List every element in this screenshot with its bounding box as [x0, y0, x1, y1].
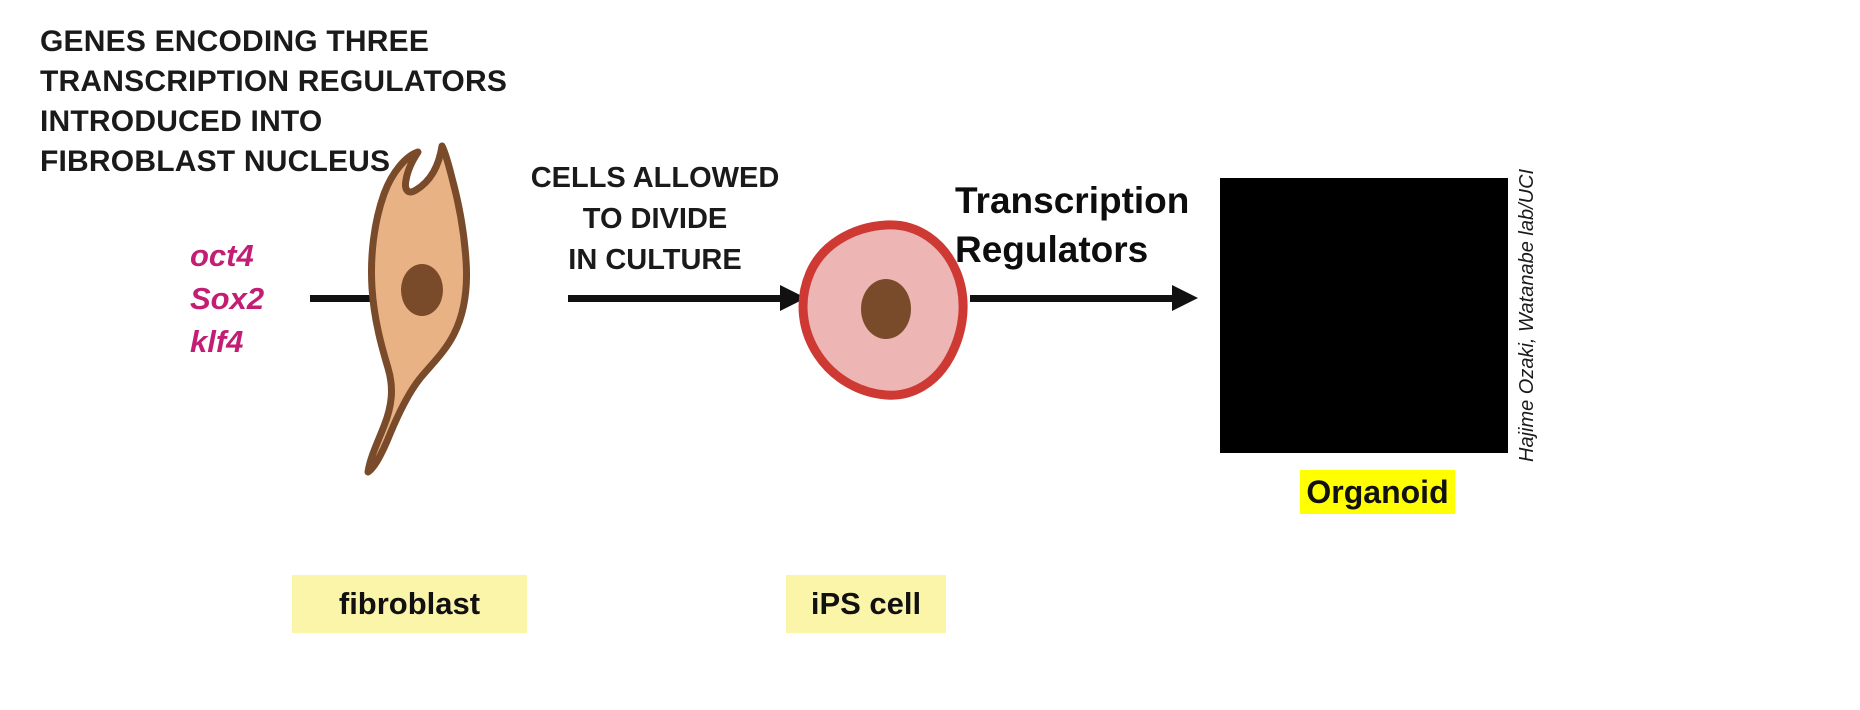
ips-cell-illustration: [790, 215, 980, 405]
organoid-micrograph: [1220, 178, 1508, 453]
diagram-canvas: GENES ENCODING THREE TRANSCRIPTION REGUL…: [0, 0, 1860, 710]
fibroblast-icon: [330, 138, 530, 478]
arrow-ips-to-organoid-icon: [970, 283, 1200, 313]
gene-item-sox2: Sox2: [190, 277, 264, 320]
arrow-fibroblast-to-ips-icon: [568, 283, 808, 313]
label-organoid: Organoid: [1300, 470, 1455, 514]
step-caption-transcription-regulators: Transcription Regulators: [955, 176, 1210, 274]
label-ips-cell: iPS cell: [786, 575, 946, 633]
image-credit: Hajime Ozaki, Watanabe lab/UCI: [1516, 178, 1539, 453]
arrow-head: [1172, 285, 1198, 311]
arrow-shaft: [970, 295, 1174, 302]
organoid-fluorescence-image: [1220, 178, 1508, 453]
label-fibroblast: fibroblast: [292, 575, 527, 633]
gene-item-oct4: oct4: [190, 234, 264, 277]
ips-nucleus-icon: [861, 279, 911, 339]
ips-cell-icon: [790, 215, 980, 405]
fibroblast-cell-illustration: [330, 138, 530, 478]
fibroblast-nucleus-icon: [401, 264, 443, 316]
gene-list: oct4 Sox2 klf4: [190, 234, 264, 363]
arrow-shaft: [568, 295, 782, 302]
gene-item-klf4: klf4: [190, 320, 264, 363]
step-caption-divide: CELLS ALLOWED TO DIVIDE IN CULTURE: [505, 158, 805, 281]
